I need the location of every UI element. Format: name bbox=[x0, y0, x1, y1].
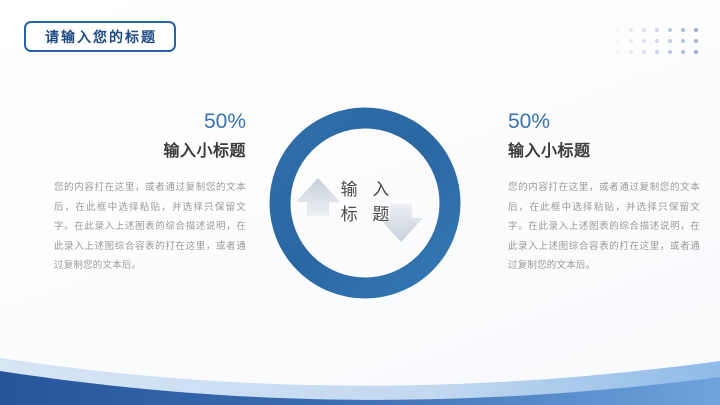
arrow-up-icon bbox=[296, 178, 340, 216]
dot bbox=[616, 28, 620, 32]
dot bbox=[694, 39, 698, 43]
subtitle-right: 输入小标题 bbox=[508, 142, 700, 161]
dot bbox=[681, 28, 685, 32]
percent-value-right: 50% bbox=[508, 110, 700, 133]
dot bbox=[681, 39, 685, 43]
body-text-right: 您的内容打在这里，或者通过复制您的文本后，在此框中选择粘贴，并选择只保留文字。在… bbox=[508, 178, 700, 275]
dot bbox=[655, 50, 659, 54]
dot bbox=[694, 50, 698, 54]
dot bbox=[655, 28, 659, 32]
arrow-down-icon bbox=[368, 204, 423, 242]
content-column-left: 50% 输入小标题 您的内容打在这里，或者通过复制您的文本后，在此框中选择粘贴，… bbox=[54, 110, 246, 276]
dot bbox=[694, 28, 698, 32]
subtitle-left: 输入小标题 bbox=[54, 142, 246, 161]
dot bbox=[668, 28, 672, 32]
donut-diagram: 输 入 标 题 bbox=[268, 106, 462, 300]
body-text-left: 您的内容打在这里，或者通过复制您的文本后，在此框中选择粘贴，并选择只保留文字。在… bbox=[54, 178, 246, 275]
dot bbox=[642, 28, 646, 32]
dot bbox=[629, 39, 633, 43]
content-column-right: 50% 输入小标题 您的内容打在这里，或者通过复制您的文本后，在此框中选择粘贴，… bbox=[508, 110, 700, 276]
dot bbox=[629, 50, 633, 54]
dot bbox=[616, 39, 620, 43]
dot bbox=[655, 39, 659, 43]
donut-ring bbox=[268, 106, 462, 300]
wave-decoration bbox=[0, 325, 720, 405]
dot-grid-icon bbox=[611, 24, 702, 57]
dot bbox=[668, 50, 672, 54]
slide-title-box[interactable]: 请输入您的标题 bbox=[24, 21, 176, 52]
page-title: 请输入您的标题 bbox=[43, 30, 157, 44]
dot bbox=[642, 39, 646, 43]
percent-value-left: 50% bbox=[54, 110, 246, 133]
dot bbox=[681, 50, 685, 54]
slide-canvas: 请输入您的标题 50% 输入小标题 您的内容打在这里，或者通过复制您的文本后，在… bbox=[0, 0, 720, 405]
dot bbox=[629, 28, 633, 32]
dot bbox=[616, 50, 620, 54]
dot bbox=[642, 50, 646, 54]
dot bbox=[668, 39, 672, 43]
